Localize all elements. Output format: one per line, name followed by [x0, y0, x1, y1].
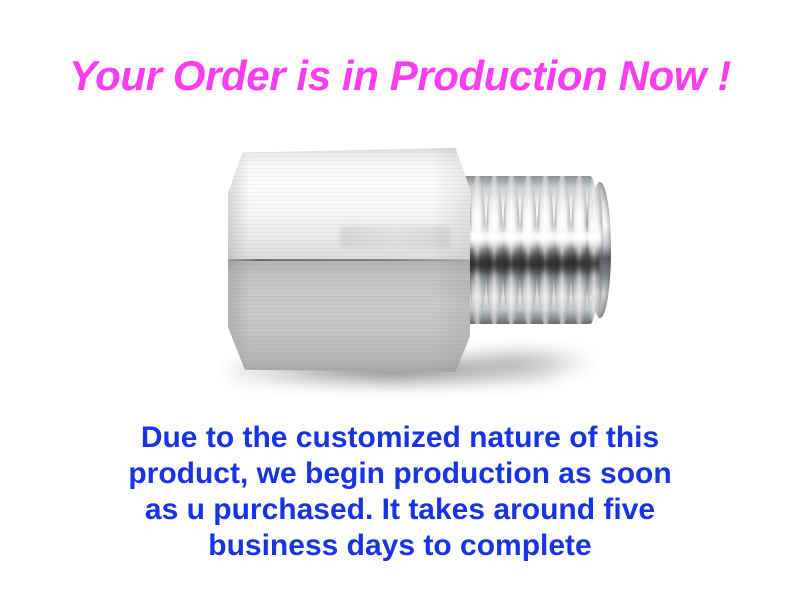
thread-ridge	[554, 174, 571, 326]
thread-ridge	[503, 174, 520, 326]
notice-page: Your Order is in Production Now !	[0, 0, 800, 600]
thread-ridge	[586, 174, 603, 326]
thread-ridge	[520, 174, 537, 326]
thread-ridge	[486, 174, 503, 326]
page-title: Your Order is in Production Now !	[0, 52, 800, 100]
thread-shadow-band	[454, 252, 600, 276]
notice-line: as u purchased. It takes around five	[0, 492, 800, 528]
notice-text: Due to the customized nature of this pro…	[0, 420, 800, 564]
product-image	[150, 120, 670, 410]
drop-shadow-secondary	[450, 350, 590, 376]
thread-ridge	[537, 174, 554, 326]
notice-line: Due to the customized nature of this	[0, 420, 800, 456]
hex-side-shading	[228, 148, 470, 372]
threaded-nipple	[450, 168, 608, 333]
thread-specular-highlight	[452, 224, 602, 250]
thread-ridge	[469, 174, 486, 326]
notice-line: product, we begin production as soon	[0, 456, 800, 492]
hex-body	[228, 148, 470, 372]
notice-line: business days to complete	[0, 528, 800, 564]
